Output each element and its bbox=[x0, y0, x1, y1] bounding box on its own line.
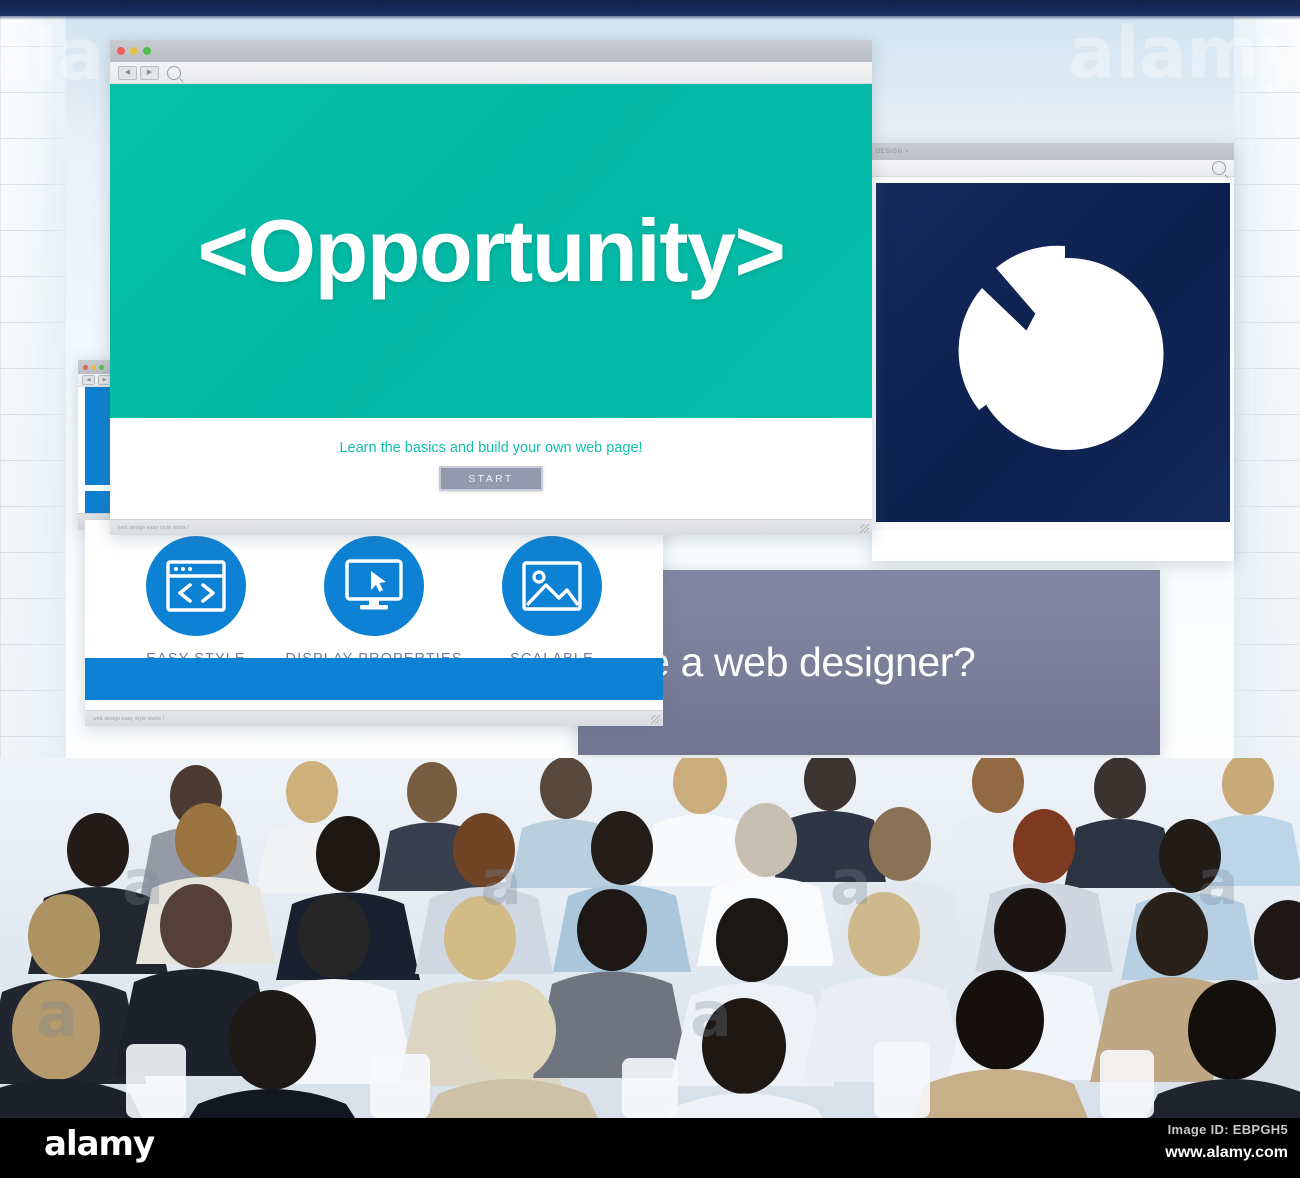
feature-item-easy-style[interactable]: EASY STYLE bbox=[110, 536, 282, 667]
photograph: alamy alamy a a a a a a ◀ ▶ bbox=[0, 0, 1300, 1118]
window-status-bar: web design easy style starts ! bbox=[110, 519, 872, 535]
image-id-label: Image ID: EBPGH5 bbox=[1168, 1122, 1288, 1137]
forward-icon[interactable]: ▶ bbox=[140, 66, 159, 80]
window-title-bar[interactable]: DESIGN > bbox=[872, 143, 1234, 160]
web-designer-window[interactable]: nt to be a web designer? bbox=[578, 570, 1160, 755]
window-content: nt to be a web designer? bbox=[578, 570, 1160, 755]
features-window[interactable]: EASY STYLE DISPLAY PROPERTIES bbox=[85, 520, 663, 726]
maximize-icon[interactable] bbox=[99, 365, 104, 370]
status-text: web design easy style starts ! bbox=[118, 525, 189, 531]
image-picture-icon bbox=[502, 536, 602, 636]
screenshot-stage: alamy alamy a a a a a a ◀ ▶ bbox=[0, 0, 1300, 1178]
window-content bbox=[872, 177, 1234, 530]
window-toolbar[interactable] bbox=[872, 160, 1234, 177]
search-icon[interactable] bbox=[167, 66, 181, 80]
status-text: web design easy style starts ! bbox=[93, 716, 164, 722]
seminar-audience: a a a a a a bbox=[0, 758, 1300, 1118]
audience-figures bbox=[0, 758, 1300, 1118]
monitor-cursor-icon bbox=[324, 536, 424, 636]
subtitle-text: Learn the basics and build your own web … bbox=[110, 440, 872, 456]
window-status-bar: web design easy style starts ! bbox=[85, 710, 663, 726]
ceiling-band bbox=[0, 0, 1300, 16]
alamy-logo: alamy bbox=[44, 1124, 154, 1164]
code-window-icon bbox=[146, 536, 246, 636]
back-icon[interactable]: ◀ bbox=[118, 66, 137, 80]
minimize-icon[interactable] bbox=[91, 365, 96, 370]
pie-chart-panel bbox=[876, 183, 1230, 522]
hero-banner: <Opportunity> bbox=[110, 84, 872, 418]
window-content: EASY STYLE DISPLAY PROPERTIES bbox=[85, 520, 663, 726]
back-icon[interactable]: ◀ bbox=[82, 375, 95, 385]
maximize-icon[interactable] bbox=[143, 47, 151, 55]
window-toolbar[interactable]: ◀ ▶ bbox=[110, 62, 872, 84]
window-content: <Opportunity> Learn the basics and build… bbox=[110, 84, 872, 498]
minimize-icon[interactable] bbox=[130, 47, 138, 55]
close-icon[interactable] bbox=[83, 365, 88, 370]
opportunity-browser-window[interactable]: ◀ ▶ <Opportunity> Learn the basics and b… bbox=[110, 40, 872, 535]
search-icon[interactable] bbox=[1212, 161, 1226, 175]
features-blue-bar bbox=[85, 658, 663, 700]
resize-handle-icon[interactable] bbox=[860, 524, 869, 533]
window-title-bar[interactable] bbox=[110, 40, 872, 62]
start-button[interactable]: START bbox=[439, 466, 543, 491]
feature-item-scalable[interactable]: SCALABLE bbox=[466, 536, 638, 667]
page-title: <Opportunity> bbox=[198, 200, 785, 302]
resize-handle-icon[interactable] bbox=[651, 715, 660, 724]
pie-chart-svg bbox=[924, 224, 1182, 482]
feature-item-display-properties[interactable]: DISPLAY PROPERTIES bbox=[288, 536, 460, 667]
alamy-footer: alamy Image ID: EBPGH5 www.alamy.com bbox=[0, 1118, 1300, 1178]
close-icon[interactable] bbox=[117, 47, 125, 55]
ceiling-band-shadow bbox=[0, 16, 1300, 20]
pie-chart-window[interactable]: DESIGN > bbox=[872, 143, 1234, 561]
alamy-url: www.alamy.com bbox=[1165, 1144, 1288, 1162]
window-tab-label: DESIGN > bbox=[876, 149, 909, 155]
hero-subsection: Learn the basics and build your own web … bbox=[110, 418, 872, 491]
feature-icon-row: EASY STYLE DISPLAY PROPERTIES bbox=[85, 520, 663, 667]
